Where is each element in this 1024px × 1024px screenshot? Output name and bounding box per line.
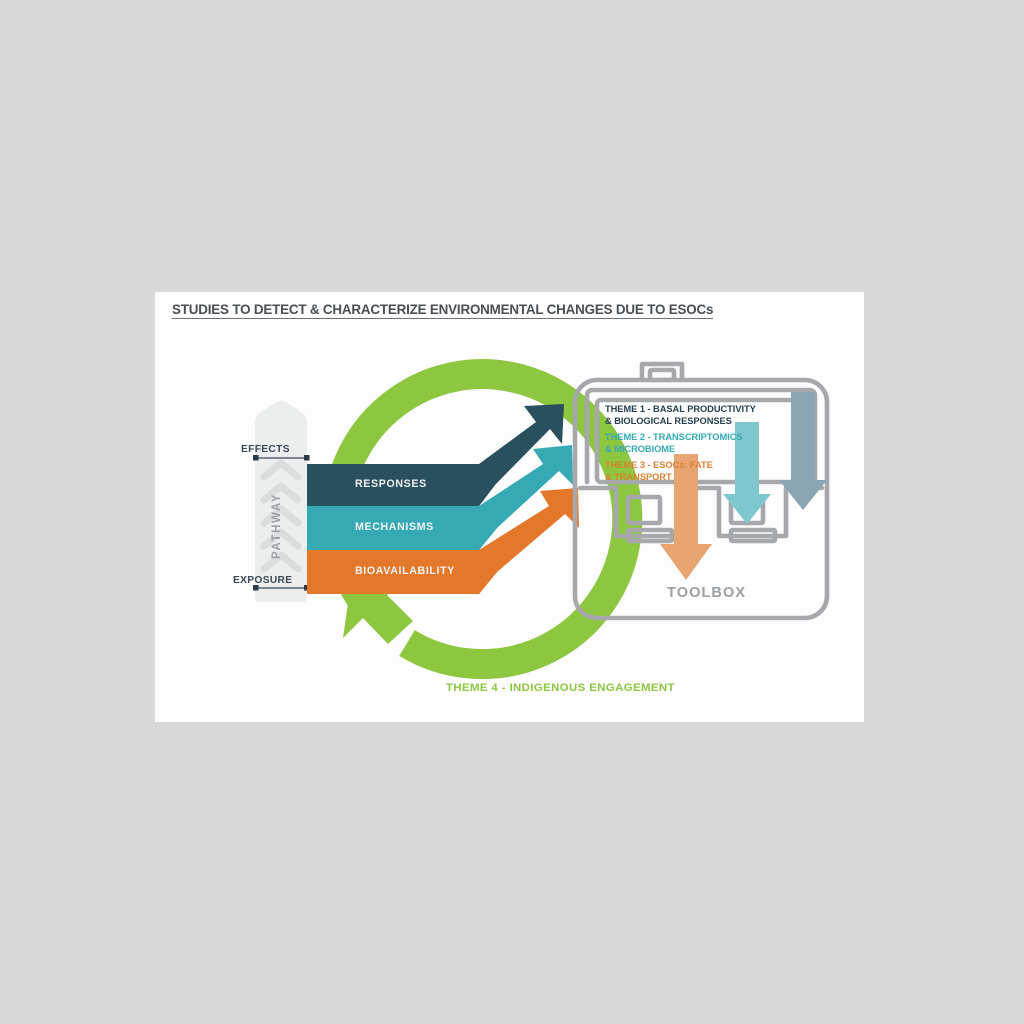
band-mechanisms — [307, 506, 497, 550]
toolbox-down-arrows — [660, 392, 827, 580]
toolbox-tray-outline — [580, 488, 822, 536]
toolbox-arrow-orange — [660, 454, 712, 580]
flow-arrows — [479, 404, 579, 594]
pathway-bands — [307, 464, 497, 594]
band-responses — [307, 464, 495, 506]
pathway-column — [253, 401, 310, 603]
diagram-canvas — [155, 292, 864, 722]
band-bioavailability — [307, 550, 497, 594]
figure-card: STUDIES TO DETECT & CHARACTERIZE ENVIRON… — [155, 292, 864, 722]
